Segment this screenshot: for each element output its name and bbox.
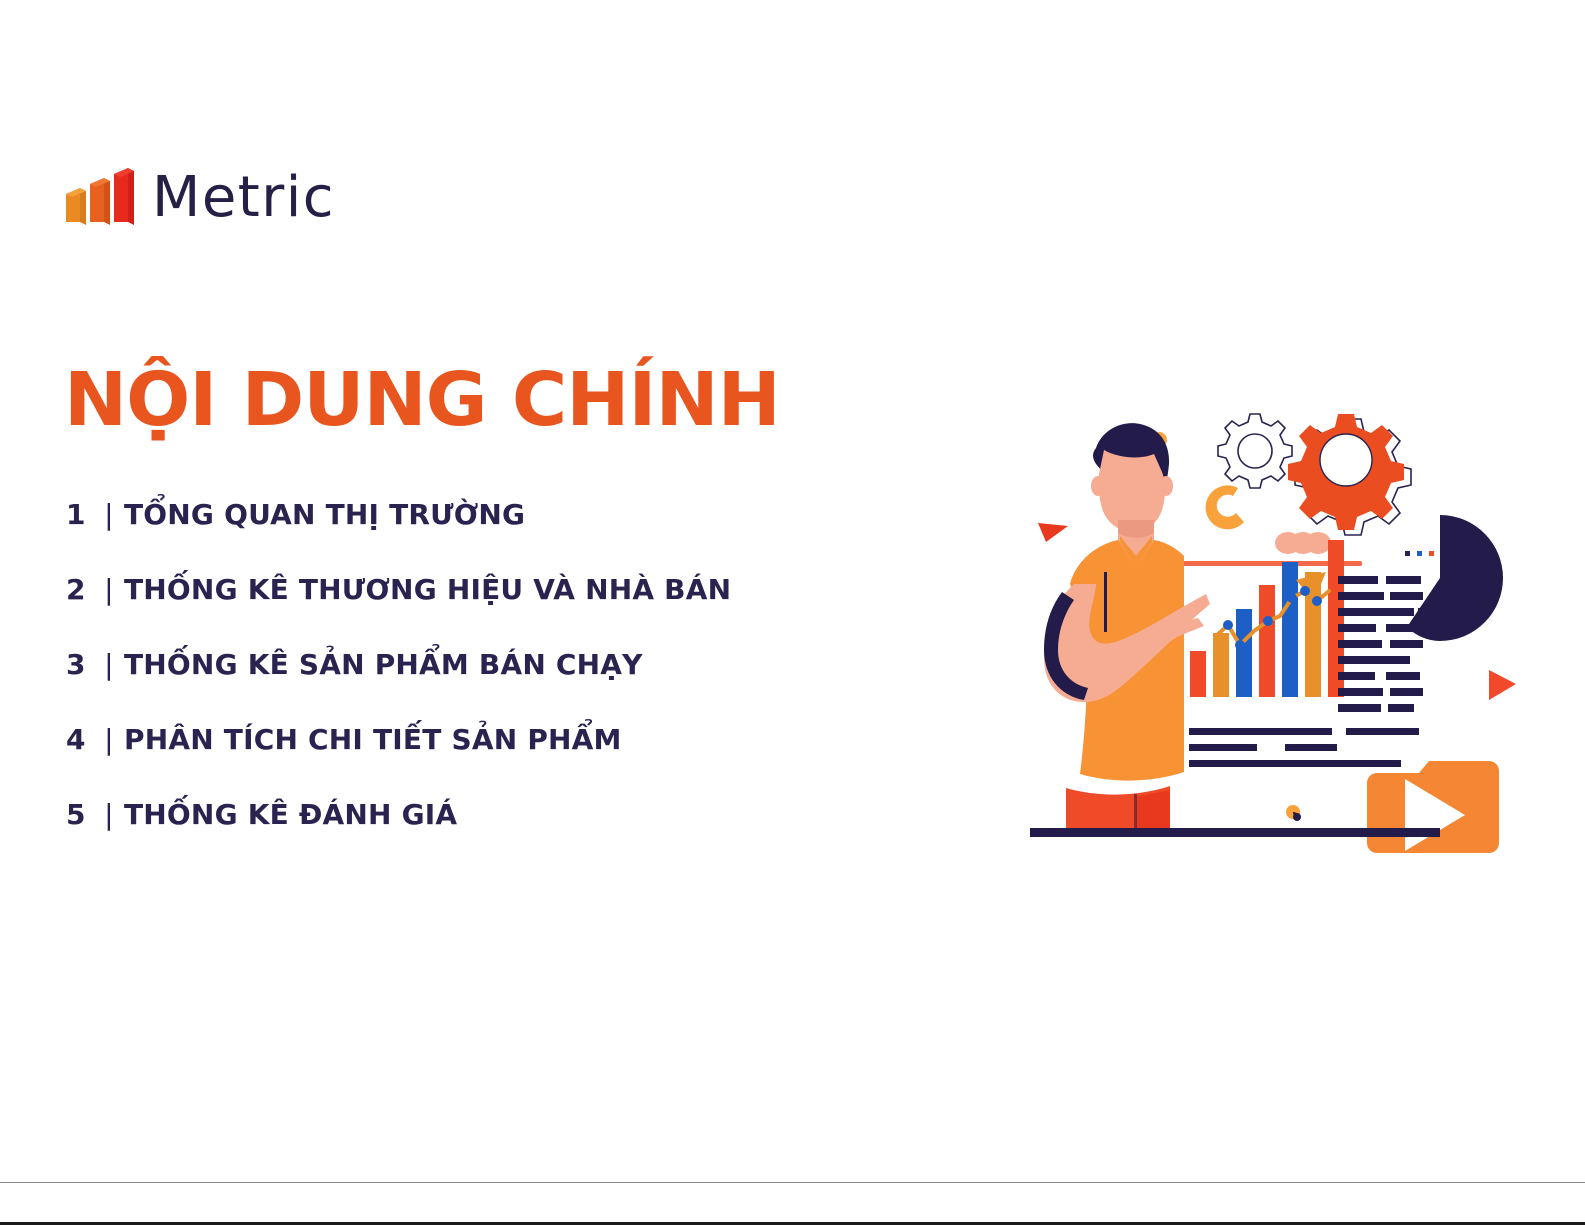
page-title: NỘI DUNG CHÍNH — [64, 362, 780, 440]
agenda-item-label: THỐNG KÊ SẢN PHẨM BÁN CHẠY — [124, 648, 926, 681]
agenda-item-number: 5 — [66, 798, 94, 831]
agenda-item-label: THỐNG KÊ THƯƠNG HIỆU VÀ NHÀ BÁN — [124, 573, 926, 606]
agenda-item-label: PHÂN TÍCH CHI TIẾT SẢN PHẨM — [124, 723, 926, 756]
crescent-arc-icon — [1206, 485, 1244, 529]
gear-large-icon — [1288, 414, 1411, 535]
footer-divider — [0, 1182, 1585, 1183]
video-play-card — [1367, 761, 1499, 853]
bar-4 — [1259, 585, 1275, 697]
agenda-item-separator: | — [94, 498, 124, 531]
agenda-item-2[interactable]: 2 | THỐNG KÊ THƯƠNG HIỆU VÀ NHÀ BÁN — [66, 573, 926, 648]
agenda-item-3[interactable]: 3 | THỐNG KÊ SẢN PHẨM BÁN CHẠY — [66, 648, 926, 723]
person-face — [1099, 450, 1165, 532]
decorative-dots-trio — [1405, 551, 1434, 556]
agenda-item-separator: | — [94, 723, 124, 756]
bar-5 — [1282, 562, 1298, 697]
decorative-dot-pair — [1286, 805, 1301, 821]
person-pants-split — [1134, 794, 1137, 830]
agenda-item-number: 4 — [66, 723, 94, 756]
agenda-list: 1 | TỔNG QUAN THỊ TRƯỜNG 2 | THỐNG KÊ TH… — [66, 498, 926, 873]
slide-canvas: Metric NỘI DUNG CHÍNH 1 | TỔNG QUAN THỊ … — [0, 0, 1585, 1225]
agenda-item-5[interactable]: 5 | THỐNG KÊ ĐÁNH GIÁ — [66, 798, 926, 873]
decorative-blobs — [1275, 532, 1331, 554]
bar-2 — [1213, 633, 1229, 697]
bar-3 — [1236, 609, 1252, 697]
agenda-item-1[interactable]: 1 | TỔNG QUAN THỊ TRƯỜNG — [66, 498, 926, 573]
agenda-item-separator: | — [94, 798, 124, 831]
decorative-triangle-right — [1489, 670, 1516, 700]
agenda-item-label: TỔNG QUAN THỊ TRƯỜNG — [124, 498, 926, 531]
person-neck-shadow — [1118, 520, 1154, 538]
brand-logo: Metric — [62, 168, 335, 231]
gear-small-outline-icon — [1218, 414, 1292, 488]
agenda-item-number: 1 — [66, 498, 94, 531]
agenda-item-number: 3 — [66, 648, 94, 681]
business-analyst-illustration — [1000, 388, 1530, 866]
agenda-item-number: 2 — [66, 573, 94, 606]
report-text-lines — [1338, 576, 1423, 712]
metric-bar-logo-icon — [62, 168, 134, 231]
agenda-item-4[interactable]: 4 | PHÂN TÍCH CHI TIẾT SẢN PHẨM — [66, 723, 926, 798]
agenda-item-separator: | — [94, 648, 124, 681]
ground-line — [1030, 828, 1440, 837]
agenda-item-label: THỐNG KÊ ĐÁNH GIÁ — [124, 798, 926, 831]
person-pants-right — [1136, 790, 1170, 828]
person-shirt-placket — [1104, 572, 1107, 632]
agenda-item-separator: | — [94, 573, 124, 606]
bar-1 — [1190, 651, 1206, 697]
decorative-triangle-left — [1038, 523, 1068, 542]
brand-wordmark: Metric — [152, 170, 335, 226]
